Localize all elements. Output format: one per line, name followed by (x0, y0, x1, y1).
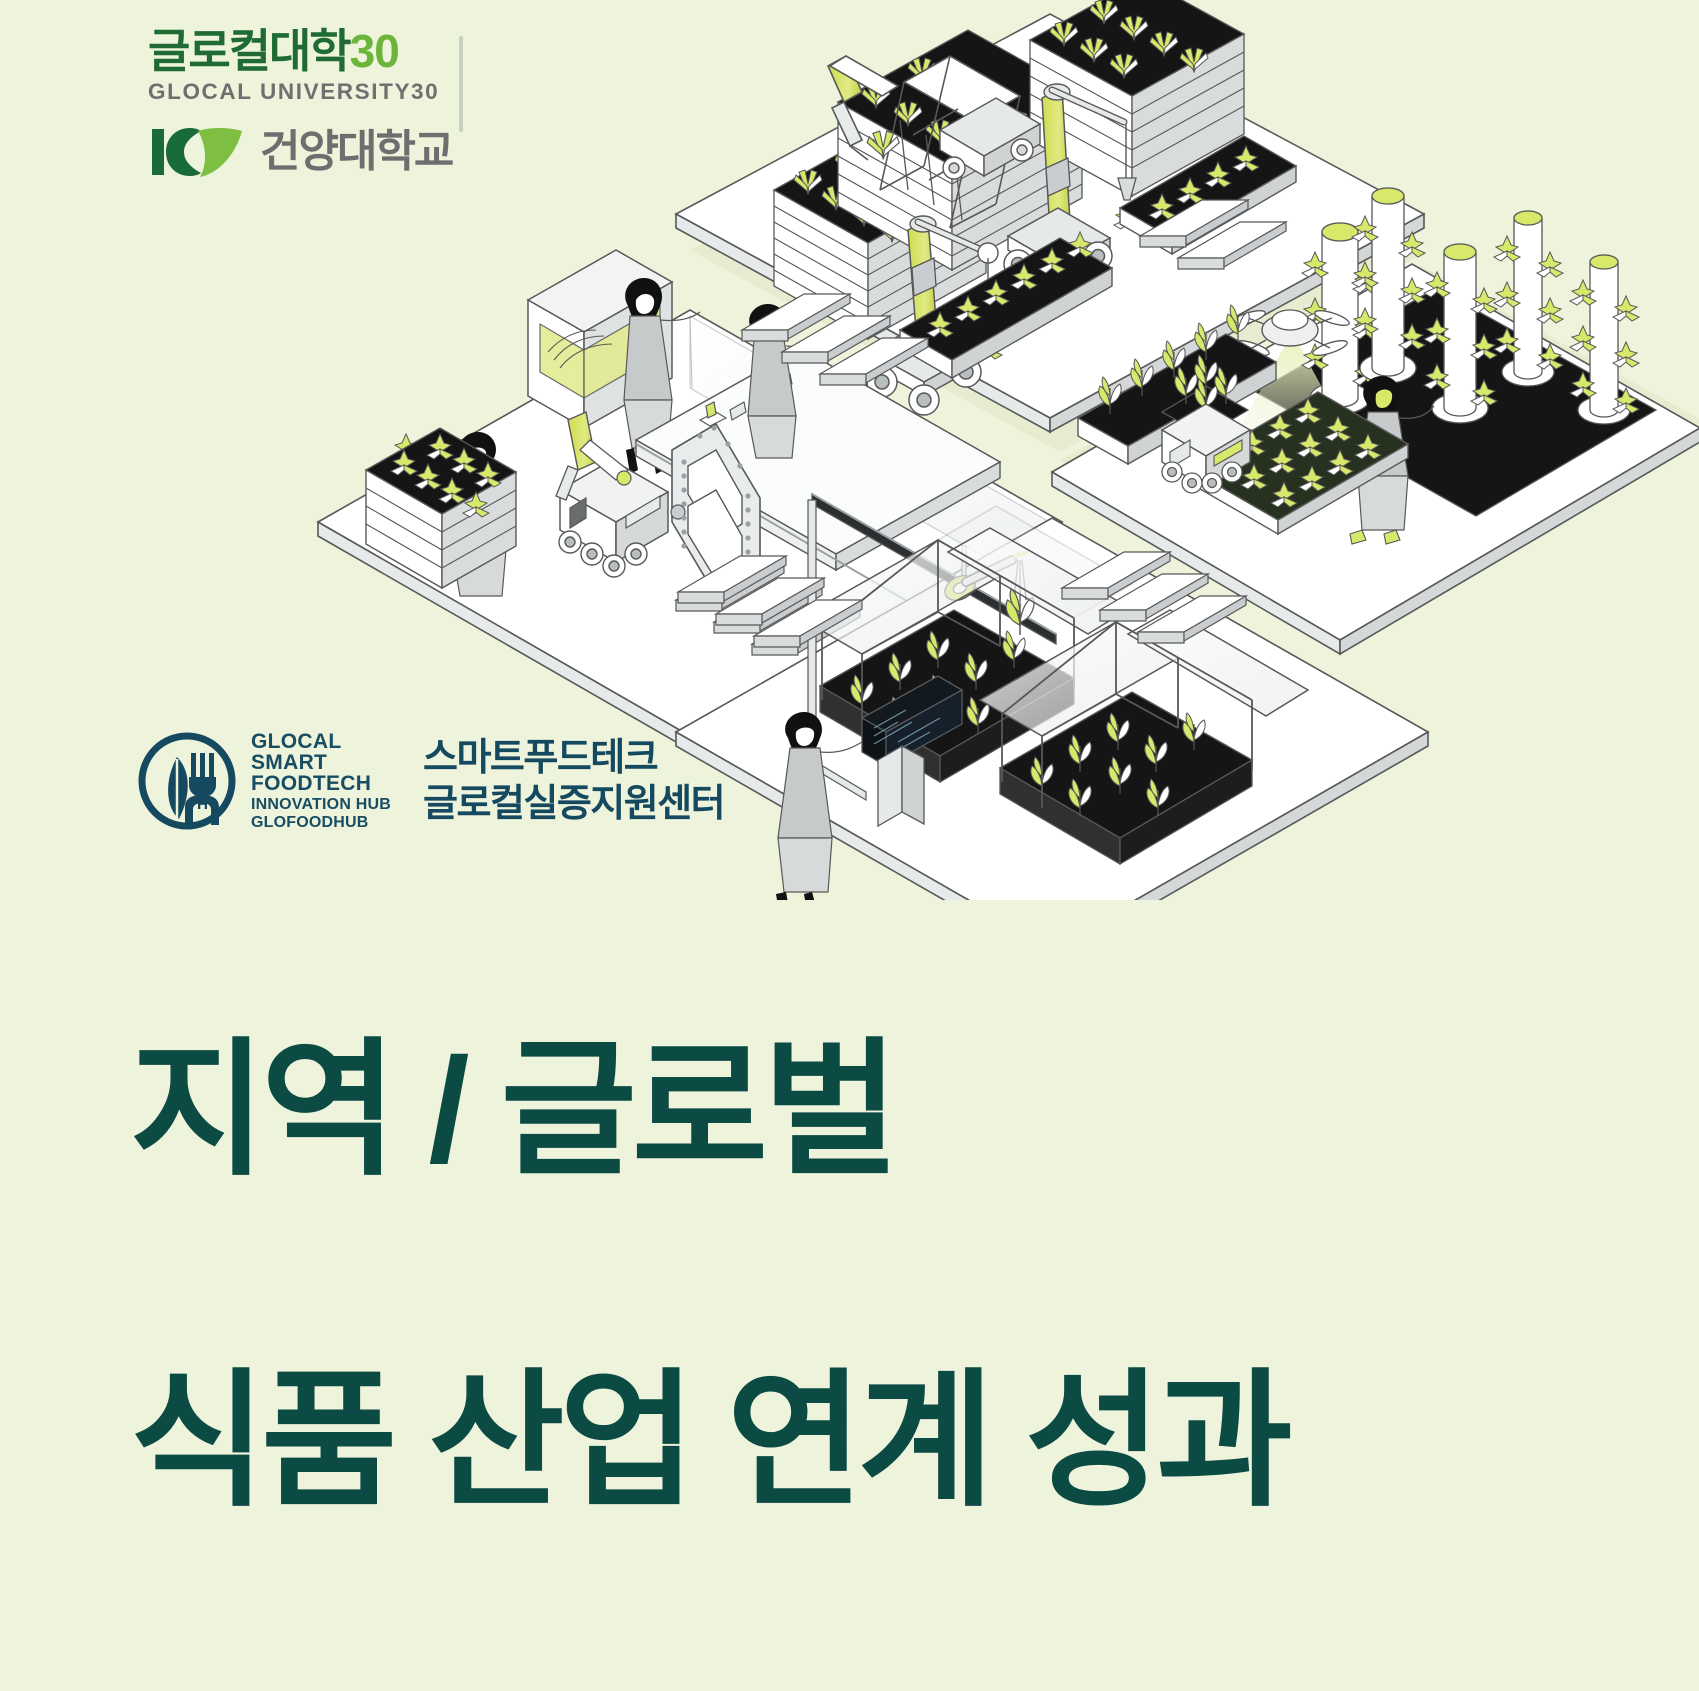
glofoodhub-line-3: FOODTECH (251, 773, 391, 794)
center-name-line-1: 스마트푸드테크 (423, 735, 724, 781)
konyang-ky-mark-icon (150, 125, 246, 179)
glofoodhub-lockup: GLOCAL SMART FOODTECH INNOVATION HUB GLO… (133, 727, 724, 835)
konyang-university-name: 건양대학교 (260, 130, 452, 174)
poster-canvas: 글로컬대학 30 GLOCAL UNIVERSITY30 건양대학교 (0, 0, 1699, 1342)
center-name-line-2: 글로컬실증지원센터 (423, 781, 724, 827)
konyang-university-lockup: 건양대학교 (150, 125, 452, 179)
glocal-university-number: 30 (350, 28, 399, 74)
glofoodhub-line-5: GLOFOODHUB (251, 815, 391, 831)
glocal-university-lockup: 글로컬대학 30 GLOCAL UNIVERSITY30 (148, 28, 463, 132)
glofoodhub-line-4: INNOVATION HUB (251, 797, 391, 813)
glocal-university-english: GLOCAL UNIVERSITY30 (148, 81, 439, 104)
headline-line-2: 식품 산업 연계 성과 (130, 1359, 1288, 1525)
headline-line-1: 지역 / 글로벌 (130, 1028, 1288, 1194)
glocal-university-korean: 글로컬대학 (148, 28, 350, 74)
glofoodhub-line-1: GLOCAL (251, 731, 391, 752)
logo-divider (459, 36, 463, 132)
glofoodhub-badge-icon (133, 727, 241, 835)
page-title: 지역 / 글로벌 식품 산업 연계 성과 (130, 862, 1288, 1691)
glofoodhub-line-2: SMART (251, 752, 391, 773)
